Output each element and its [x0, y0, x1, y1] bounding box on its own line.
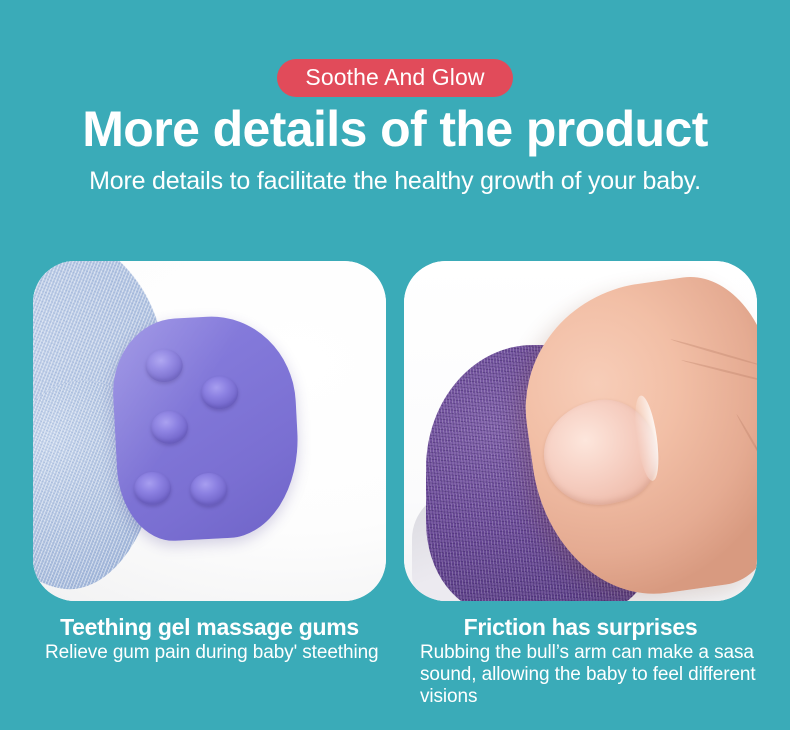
product-image-card-friction: [404, 261, 757, 601]
caption-body: Rubbing the bull’s arm can make a sasa s…: [404, 642, 757, 708]
badge-row: Soothe And Glow: [0, 59, 790, 97]
massage-bump-3: [150, 410, 189, 445]
massage-bump-2: [200, 375, 239, 410]
caption-title: Friction has surprises: [404, 612, 757, 642]
caption-friction: Friction has surprises Rubbing the bull’…: [404, 612, 757, 708]
product-detail-cards: [33, 261, 757, 601]
purple-teething-pad: [109, 312, 302, 543]
page-subtitle: More details to facilitate the healthy g…: [0, 166, 790, 196]
soothe-and-glow-badge: Soothe And Glow: [277, 59, 512, 97]
card-captions: Teething gel massage gums Relieve gum pa…: [33, 612, 757, 708]
knuckle-crease: [736, 414, 757, 479]
knuckle-crease: [670, 338, 757, 366]
promo-page: Soothe And Glow More details of the prod…: [0, 0, 790, 730]
caption-teething-gel: Teething gel massage gums Relieve gum pa…: [33, 612, 386, 708]
caption-body: Relieve gum pain during baby' steething: [33, 642, 386, 664]
page-title: More details of the product: [0, 100, 790, 158]
knuckle-crease: [681, 359, 757, 386]
massage-bump-4: [133, 471, 172, 506]
caption-title: Teething gel massage gums: [33, 612, 386, 642]
massage-bump-5: [189, 472, 228, 507]
massage-bump-1: [145, 348, 184, 383]
knuckle-crease: [754, 445, 757, 516]
product-image-card-teething-gel: [33, 261, 386, 601]
